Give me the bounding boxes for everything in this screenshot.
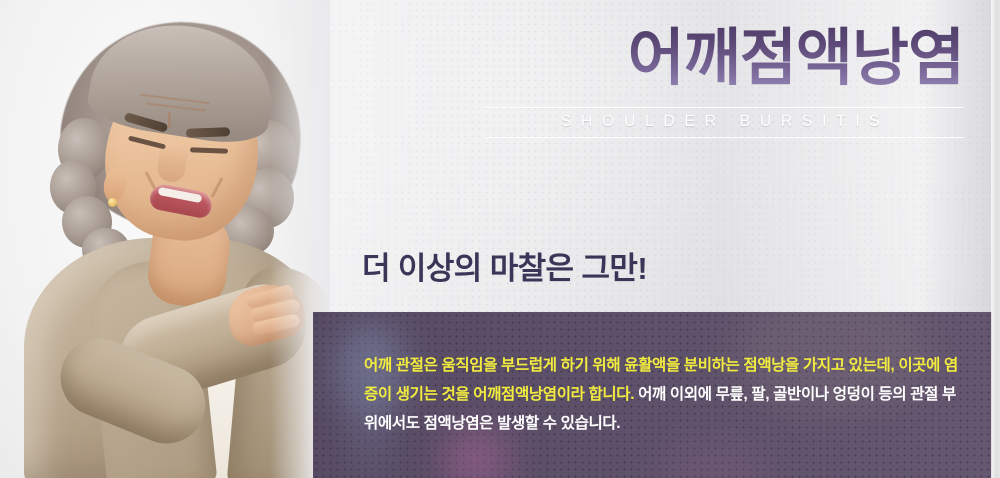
- headline: 더 이상의 마찰은 그만!: [362, 243, 647, 288]
- eyebrow-right: [186, 127, 230, 138]
- page-subtitle: SHOULDER BURSITIS: [488, 113, 962, 131]
- description-panel: 어깨 관절은 움직임을 부드럽게 하기 위해 윤활액을 분비하는 점액낭을 가지…: [313, 312, 992, 478]
- shoulder-bursitis-banner: 어깨점액낭염 SHOULDER BURSITIS 더 이상의 마찰은 그만! 어…: [0, 0, 1000, 478]
- patient-photo: [0, 0, 330, 478]
- title-block: 어깨점액낭염 SHOULDER BURSITIS: [486, 24, 964, 138]
- subtitle-rule-wrap: SHOULDER BURSITIS: [486, 107, 964, 138]
- page-title: 어깨점액낭염: [486, 24, 964, 93]
- right-edge-strip: [991, 0, 1000, 478]
- glabella-wrinkle: [168, 112, 171, 128]
- description-text: 어깨 관절은 움직임을 부드럽게 하기 위해 윤활액을 분비하는 점액낭을 가지…: [364, 351, 962, 438]
- earring: [108, 198, 117, 207]
